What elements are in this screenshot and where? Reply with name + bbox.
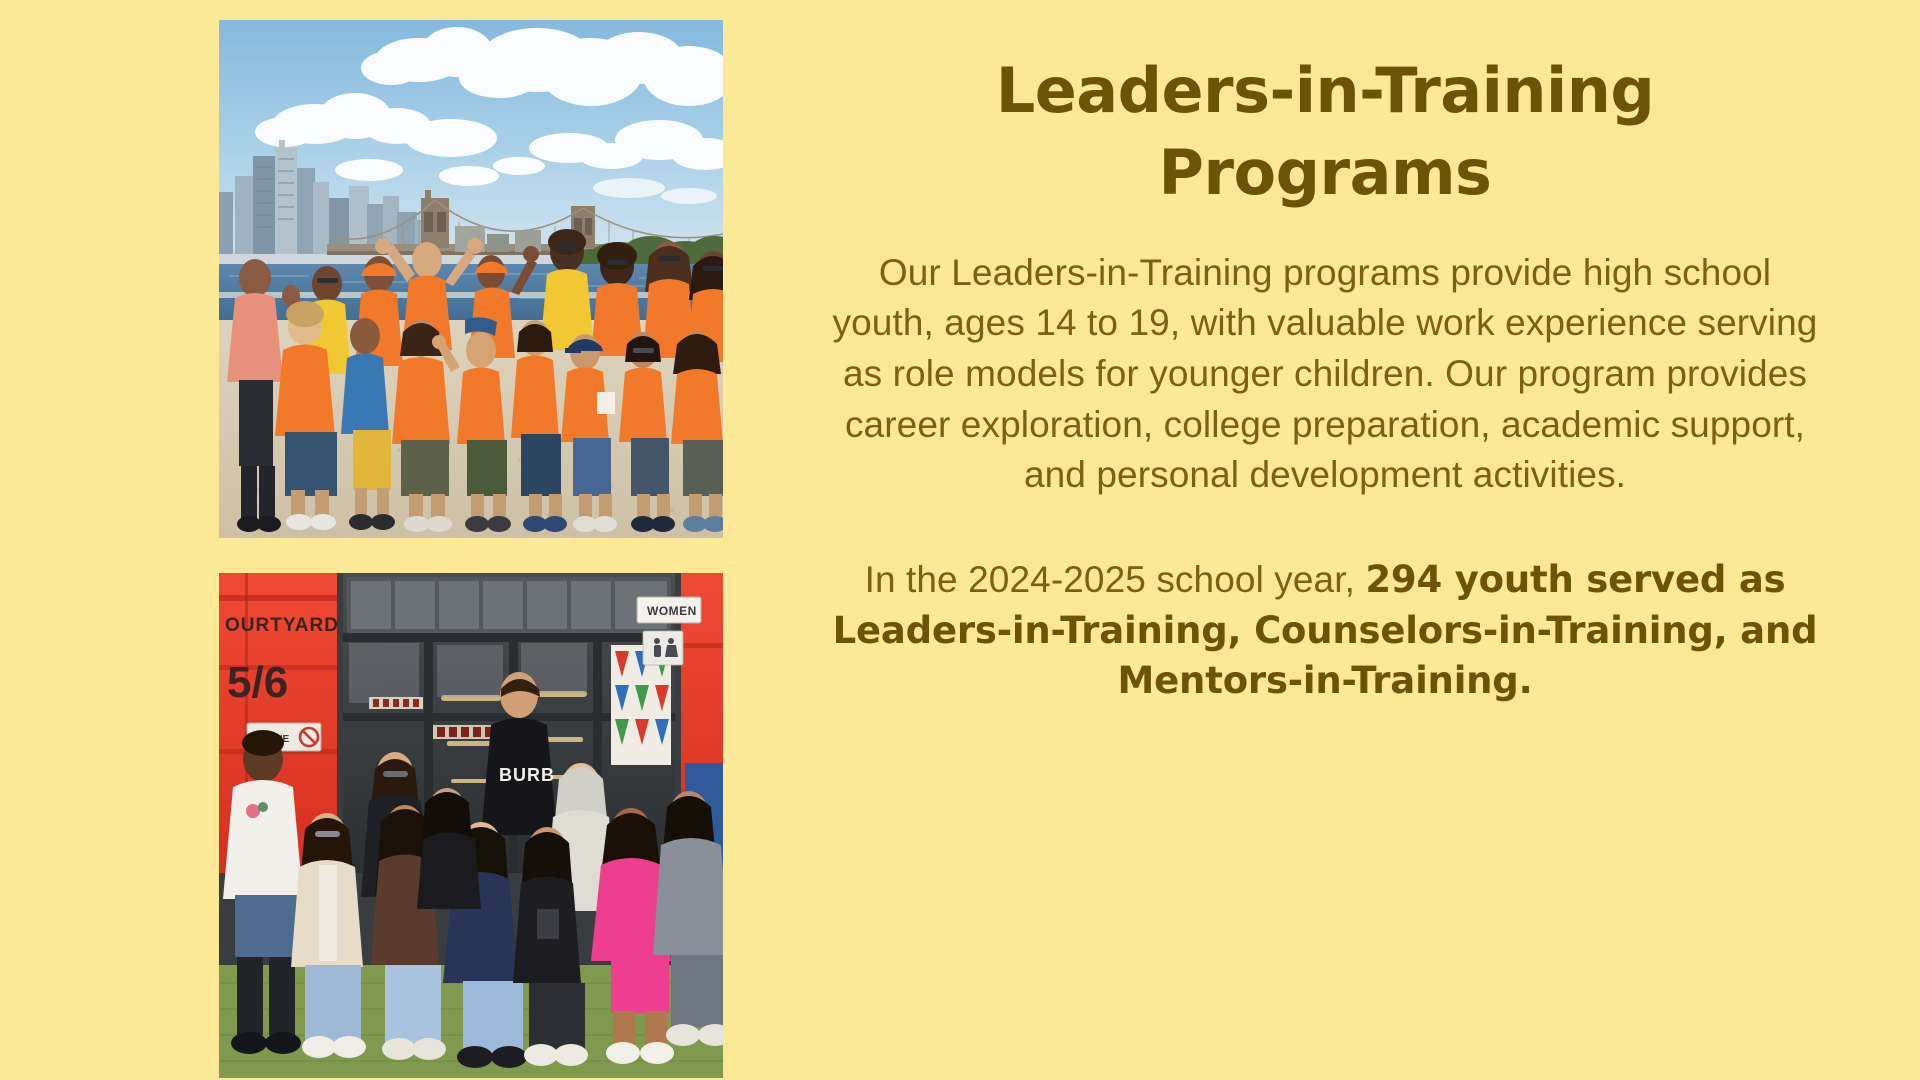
body-copy: Our Leaders-in-Training programs provide… xyxy=(820,248,1830,708)
svg-text:BURB: BURB xyxy=(499,765,555,785)
paragraph-program-description: Our Leaders-in-Training programs provide… xyxy=(828,248,1822,501)
text-column: Leaders-in-Training Programs Our Leaders… xyxy=(820,50,1830,707)
page-title-line-2: Programs xyxy=(1159,136,1492,209)
photo-teen-leaders-courtyard: OURTYARD 5/6 E ZONE xyxy=(219,573,723,1078)
svg-text:WOMEN: WOMEN xyxy=(647,604,697,618)
page-title-line-1: Leaders-in-Training xyxy=(996,54,1655,127)
photo-campers-brooklyn-bridge xyxy=(219,20,723,538)
svg-text:OURTYARD: OURTYARD xyxy=(225,615,339,636)
impact-stat-intro: In the 2024-2025 school year, xyxy=(865,559,1366,600)
photo-top-graphic xyxy=(219,20,723,538)
page-title: Leaders-in-Training Programs xyxy=(820,50,1830,214)
photo-column: OURTYARD 5/6 E ZONE xyxy=(219,20,723,1060)
photo-bottom-graphic: OURTYARD 5/6 E ZONE xyxy=(219,573,723,1078)
slide-root: OURTYARD 5/6 E ZONE xyxy=(0,0,1920,1080)
paragraph-spacer xyxy=(828,501,1822,555)
paragraph-impact-stat: In the 2024-2025 school year, 294 youth … xyxy=(828,555,1822,707)
svg-text:5/6: 5/6 xyxy=(227,658,288,707)
